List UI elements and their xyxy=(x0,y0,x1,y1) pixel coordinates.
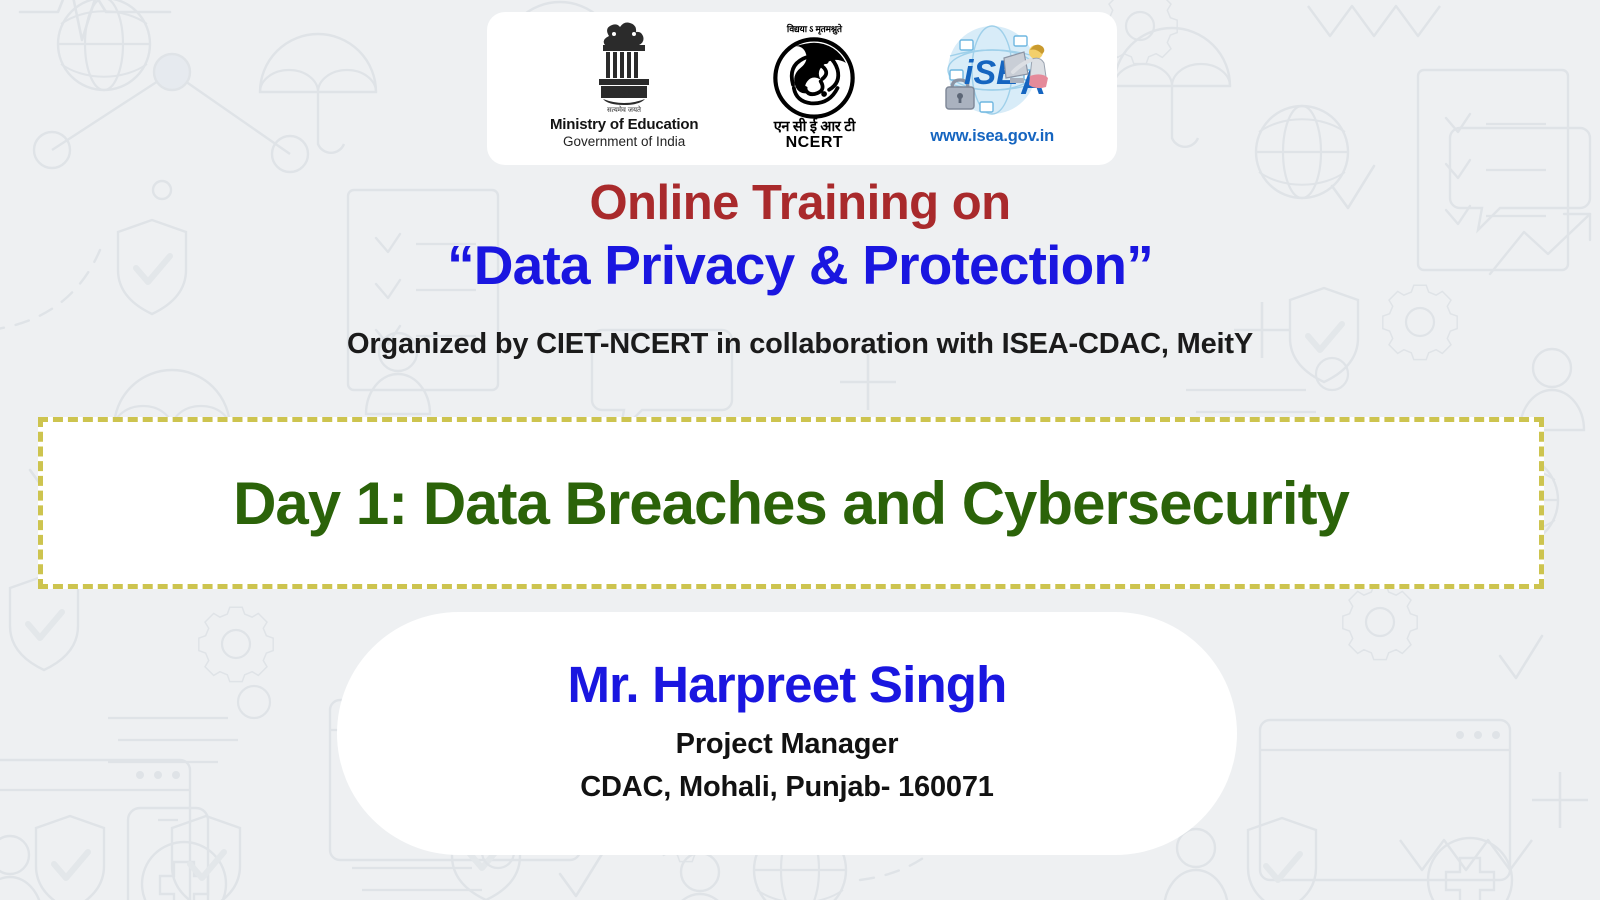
ncert-motto: विद्यया ऽ मृतमश्नुते xyxy=(787,22,842,35)
ncert-emblem-icon xyxy=(772,36,856,120)
logo-strip: सत्यमेव जयते Ministry of Education Gover… xyxy=(487,12,1117,165)
isea-logo: iSE A www.isea.gov.in xyxy=(930,12,1054,165)
ncert-english-label: NCERT xyxy=(786,135,844,152)
isea-globe-icon: iSE A xyxy=(932,22,1052,126)
speaker-name: Mr. Harpreet Singh xyxy=(567,657,1006,713)
speaker-organization: CDAC, Mohali, Punjab- 160071 xyxy=(580,770,993,805)
training-heading-line2: “Data Privacy & Protection” xyxy=(0,235,1600,297)
ministry-logo-title: Ministry of Education xyxy=(550,116,698,133)
day-topic-box: Day 1: Data Breaches and Cybersecurity xyxy=(38,417,1544,589)
training-heading-line1: Online Training on xyxy=(0,176,1600,231)
ministry-logo-subtitle: Government of India xyxy=(563,134,685,149)
ncert-hindi-label: एन सी ई आर टी xyxy=(774,120,855,135)
ashoka-lion-capital-icon: सत्यमेव जयते xyxy=(587,22,661,114)
day-topic-title: Day 1: Data Breaches and Cybersecurity xyxy=(233,469,1349,538)
speaker-role: Project Manager xyxy=(676,727,899,762)
ncert-logo: विद्यया ऽ मृतमश्नुते xyxy=(772,12,856,165)
svg-text:सत्यमेव जयते: सत्यमेव जयते xyxy=(607,105,642,114)
organized-by-line: Organized by CIET-NCERT in collaboration… xyxy=(0,328,1600,361)
title-block: Online Training on “Data Privacy & Prote… xyxy=(0,176,1600,296)
ministry-of-education-logo: सत्यमेव जयते Ministry of Education Gover… xyxy=(550,12,698,165)
training-slide: सत्यमेव जयते Ministry of Education Gover… xyxy=(0,0,1600,900)
isea-url-label: www.isea.gov.in xyxy=(930,127,1054,146)
speaker-card: Mr. Harpreet Singh Project Manager CDAC,… xyxy=(337,612,1237,855)
